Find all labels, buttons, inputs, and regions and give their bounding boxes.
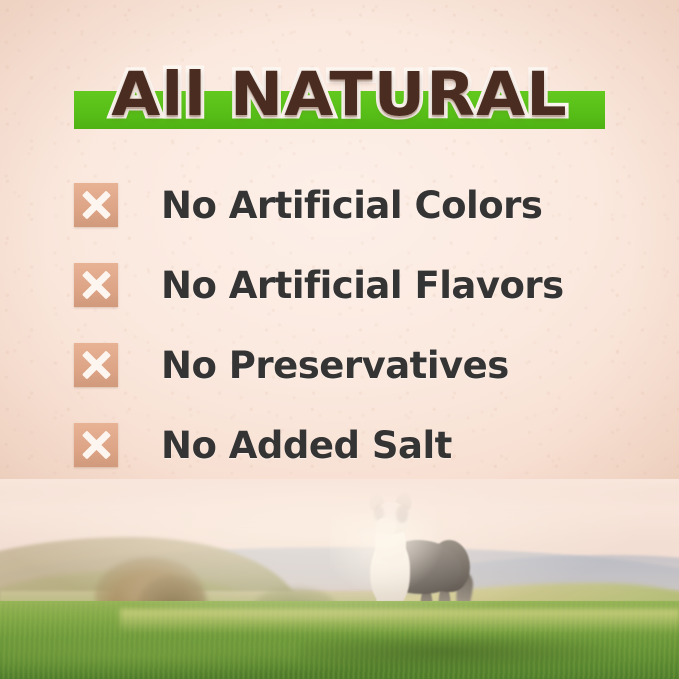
claim-label: No Added Salt (161, 427, 452, 464)
list-item: No Artificial Flavors (0, 245, 679, 325)
claim-label: No Preservatives (161, 347, 509, 384)
list-item: No Added Salt (0, 405, 679, 485)
list-item: No Preservatives (0, 325, 679, 405)
product-feature-poster: All NATURAL No Artificial Colors No Arti… (0, 0, 679, 679)
header-banner: All NATURAL (0, 52, 679, 138)
list-item: No Artificial Colors (0, 165, 679, 245)
dog-face-mask-right (396, 505, 408, 523)
x-mark-icon (74, 423, 118, 467)
grass-sun-highlight (120, 609, 679, 633)
x-mark-icon (74, 343, 118, 387)
claims-list: No Artificial Colors No Artificial Flavo… (0, 165, 679, 485)
x-mark-icon (74, 263, 118, 307)
x-mark-icon (74, 183, 118, 227)
dog-muzzle (376, 518, 396, 536)
claim-label: No Artificial Flavors (161, 267, 564, 304)
claim-label: No Artificial Colors (161, 187, 542, 224)
grass-shadow (300, 637, 679, 679)
page-title: All NATURAL (0, 52, 679, 138)
lifestyle-photo (0, 479, 679, 679)
